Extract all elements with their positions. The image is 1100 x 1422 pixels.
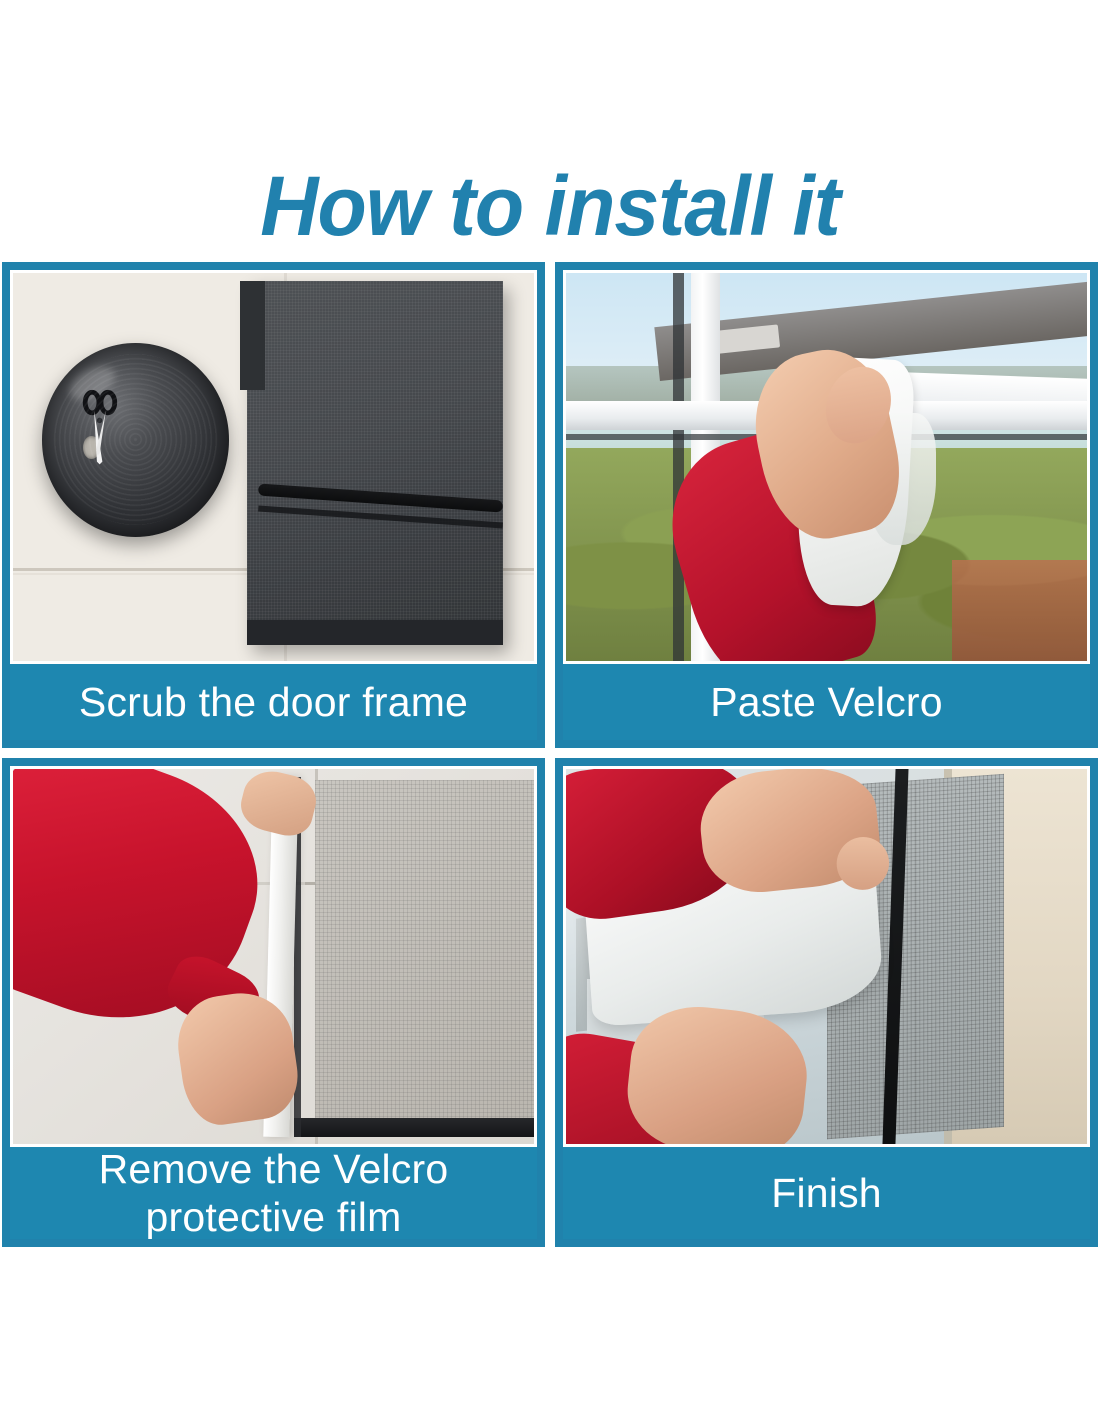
step-4-photo [563, 766, 1090, 1147]
roll-center-hole [83, 436, 100, 459]
step-2-photo [563, 270, 1090, 664]
folded-mesh-screen [247, 281, 502, 646]
highlight [64, 360, 120, 407]
how-to-install-infographic: How to install it [0, 0, 1100, 1422]
step-3-photo [10, 766, 537, 1147]
step-3-caption-line-2: protective film [16, 1193, 531, 1241]
screen-bottom-edge [247, 620, 502, 646]
step-2-caption: Paste Velcro [563, 664, 1090, 740]
steps-grid: Scrub the door frame [2, 262, 1098, 1247]
step-1-photo [10, 270, 537, 664]
screen-fold [240, 281, 266, 390]
hand-upper [236, 766, 321, 841]
mesh-screen [315, 780, 534, 1133]
page-title: How to install it [22, 160, 1078, 252]
step-3-caption-line-1: Remove the Velcro [16, 1145, 531, 1193]
step-panel-3: Remove the Velcroprotective film [2, 758, 545, 1247]
mesh-hem [294, 1118, 534, 1137]
window-mullion-dark [673, 273, 684, 661]
step-panel-4: Finish [555, 758, 1098, 1247]
step-4-caption: Finish [563, 1147, 1090, 1239]
step-4-caption-text: Finish [569, 1169, 1084, 1217]
step-panel-1: Scrub the door frame [2, 262, 545, 748]
scissors-icon [79, 386, 120, 471]
step-panel-2: Paste Velcro [555, 262, 1098, 748]
velcro-roll [42, 343, 230, 537]
step-2-caption-text: Paste Velcro [569, 678, 1084, 726]
brick-wall [952, 560, 1087, 661]
step-3-caption: Remove the Velcroprotective film [10, 1147, 537, 1239]
step-1-caption: Scrub the door frame [10, 664, 537, 740]
step-1-caption-text: Scrub the door frame [16, 678, 531, 726]
